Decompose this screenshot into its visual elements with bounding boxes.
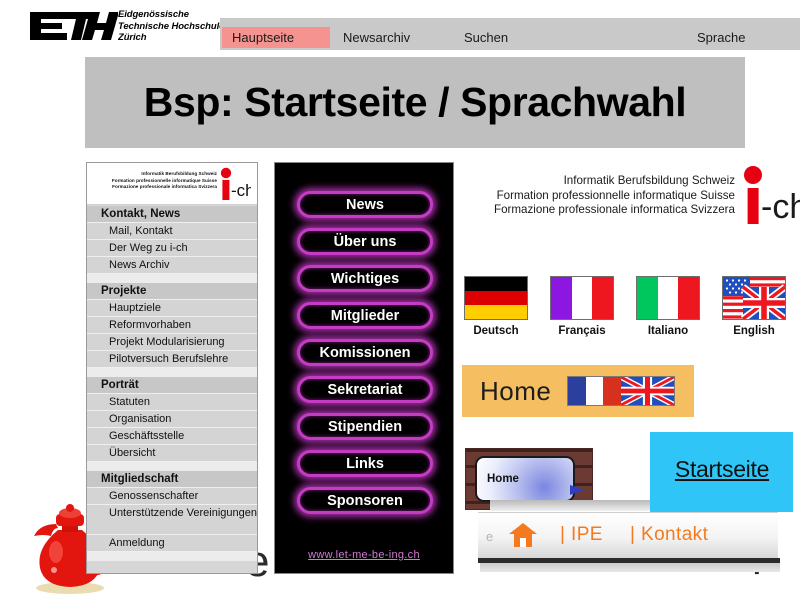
left-site-header: Informatik Berufsbildung Schweiz Formati… — [87, 163, 257, 205]
sidebar-item-pilotversuch[interactable]: Pilotversuch Berufslehre — [87, 351, 257, 368]
sidebar-item-anmeldung[interactable]: Anmeldung — [87, 535, 257, 552]
eth-line-2: Technische Hochschule — [118, 21, 236, 33]
sidebar-item-geschaeftsstelle[interactable]: Geschäftsstelle — [87, 428, 257, 445]
bubble-tail-icon — [570, 485, 584, 495]
flag-label-english: English — [716, 325, 792, 337]
language-option-english[interactable]: English — [716, 276, 792, 337]
sidebar-item-hauptziele[interactable]: Hauptziele — [87, 300, 257, 317]
sidebar-item-uebersicht[interactable]: Übersicht — [87, 445, 257, 462]
sidebar-item-genossenschafter[interactable]: Genossenschafter — [87, 488, 257, 505]
nav-tab-suchen[interactable]: Suchen — [454, 27, 569, 48]
sidebar-heading-mitgliedschaft: Mitgliedschaft — [87, 471, 257, 488]
ich-small-line-1: Informatik Berufsbildung Schweiz — [95, 171, 217, 178]
flag-label-italiano: Italiano — [630, 325, 706, 337]
slide-title-banner: Bsp: Startseite / Sprachwahl — [85, 57, 745, 148]
screenshot-black-menu: News Über uns Wichtiges Mitglieder Komis… — [274, 162, 454, 574]
eth-line-3: Zürich — [118, 32, 236, 44]
eth-logo-icon — [28, 8, 118, 44]
screenshot-cyan-startseite: Startseite — [650, 432, 793, 512]
menu-button-news[interactable]: News — [297, 191, 433, 218]
orange-bar-flags — [567, 376, 675, 406]
ich-small-text: Informatik Berufsbildung Schweiz Formati… — [95, 171, 217, 191]
fr-flag-icon — [550, 276, 614, 320]
ich-large-line-2: Formation professionnelle informatique S… — [455, 189, 735, 204]
menu-button-ueber-uns[interactable]: Über uns — [297, 228, 433, 255]
screenshot-bottom-bar: e | IPE | Kontakt — [478, 512, 778, 559]
menu-button-stipendien[interactable]: Stipendien — [297, 413, 433, 440]
brick-home-label: Home — [487, 473, 519, 485]
screenshot-orange-home-bar: Home — [462, 365, 694, 417]
home-speech-bubble[interactable]: Home — [475, 456, 575, 502]
ich-large-text: Informatik Berufsbildung Schweiz Formati… — [455, 174, 735, 218]
page-title: Bsp: Startseite / Sprachwahl — [85, 57, 745, 148]
ich-logo-small: Informatik Berufsbildung Schweiz Formati… — [93, 166, 253, 202]
orange-bar-home-label[interactable]: Home — [480, 376, 551, 407]
sidebar-item-news-archiv[interactable]: News Archiv — [87, 257, 257, 274]
ich-small-line-2: Formation professionnelle informatique S… — [95, 178, 217, 185]
menu-button-komissionen[interactable]: Komissionen — [297, 339, 433, 366]
sidebar-item-unterstuetzende[interactable]: Unterstützende Vereinigungen — [87, 505, 257, 535]
bottom-bar-partial-letter: e — [486, 529, 493, 544]
eth-line-1: Eidgenössische — [118, 9, 236, 21]
flag-label-francais: Français — [544, 325, 620, 337]
bottom-link-ipe[interactable]: | IPE — [560, 524, 603, 546]
left-site-nav: Kontakt, News Mail, Kontakt Der Weg zu i… — [87, 206, 257, 561]
nav-tab-empty[interactable] — [572, 27, 684, 48]
us-uk-flag-icon — [722, 276, 786, 320]
eth-wordmark: Eidgenössische Technische Hochschule Zür… — [118, 9, 236, 45]
bottom-bar-shadow-lower — [480, 563, 780, 572]
ich-large-line-1: Informatik Berufsbildung Schweiz — [455, 174, 735, 189]
sidebar-item-der-weg[interactable]: Der Weg zu i-ch — [87, 240, 257, 257]
language-option-francais[interactable]: Français — [544, 276, 620, 337]
menu-button-sekretariat[interactable]: Sekretariat — [297, 376, 433, 403]
menu-button-links[interactable]: Links — [297, 450, 433, 477]
flag-label-deutsch: Deutsch — [458, 325, 534, 337]
sidebar-item-reformvorhaben[interactable]: Reformvorhaben — [87, 317, 257, 334]
sidebar-item-modularisierung[interactable]: Projekt Modularisierung — [87, 334, 257, 351]
it-flag-icon — [636, 276, 700, 320]
ich-small-line-3: Formazione professionale informatica Svi… — [95, 184, 217, 191]
svg-text:-ch: -ch — [231, 181, 251, 200]
screenshot-left-site: Informatik Berufsbildung Schweiz Formati… — [86, 162, 258, 574]
sidebar-item-mail-kontakt[interactable]: Mail, Kontakt — [87, 223, 257, 240]
sidebar-heading-projekte: Projekte — [87, 283, 257, 300]
sidebar-item-organisation[interactable]: Organisation — [87, 411, 257, 428]
fr-flag-icon[interactable] — [568, 377, 621, 405]
sidebar-gap — [87, 368, 257, 377]
language-flag-row: Deutsch Français Italiano — [458, 276, 788, 358]
site-url-link[interactable]: www.let-me-be-ing.ch — [275, 549, 453, 561]
nav-tab-newsarchiv[interactable]: Newsarchiv — [333, 27, 451, 48]
ich-large-line-3: Formazione professionale informatica Svi… — [455, 203, 735, 218]
uk-flag-icon[interactable] — [621, 377, 674, 405]
nav-tabs: Hauptseite Newsarchiv Suchen Sprache — [222, 27, 795, 48]
ich-logo-large: Informatik Berufsbildung Schweiz Formati… — [455, 165, 785, 227]
language-option-italiano[interactable]: Italiano — [630, 276, 706, 337]
sidebar-heading-kontakt: Kontakt, News — [87, 206, 257, 223]
startseite-link[interactable]: Startseite — [656, 456, 788, 483]
sidebar-gap — [87, 274, 257, 283]
nav-tab-sprache[interactable]: Sprache — [687, 27, 795, 48]
sidebar-item-statuten[interactable]: Statuten — [87, 394, 257, 411]
svg-text:-ch: -ch — [761, 188, 800, 226]
language-option-deutsch[interactable]: Deutsch — [458, 276, 534, 337]
menu-button-sponsoren[interactable]: Sponsoren — [297, 487, 433, 514]
menu-button-mitglieder[interactable]: Mitglieder — [297, 302, 433, 329]
slide-canvas: Eidgenössische Technische Hochschule Zür… — [0, 0, 800, 600]
bottom-link-kontakt[interactable]: | Kontakt — [630, 524, 708, 546]
grey-accent-bar — [490, 500, 670, 511]
sidebar-heading-portraet: Porträt — [87, 377, 257, 394]
sidebar-gap — [87, 552, 257, 561]
de-flag-icon — [464, 276, 528, 320]
house-icon[interactable] — [508, 521, 538, 549]
sidebar-gap — [87, 462, 257, 471]
nav-tab-hauptseite[interactable]: Hauptseite — [222, 27, 330, 48]
ich-mark-large-icon: -ch — [743, 165, 800, 227]
menu-button-wichtiges[interactable]: Wichtiges — [297, 265, 433, 292]
ich-mark-small-icon: -ch — [219, 167, 251, 201]
